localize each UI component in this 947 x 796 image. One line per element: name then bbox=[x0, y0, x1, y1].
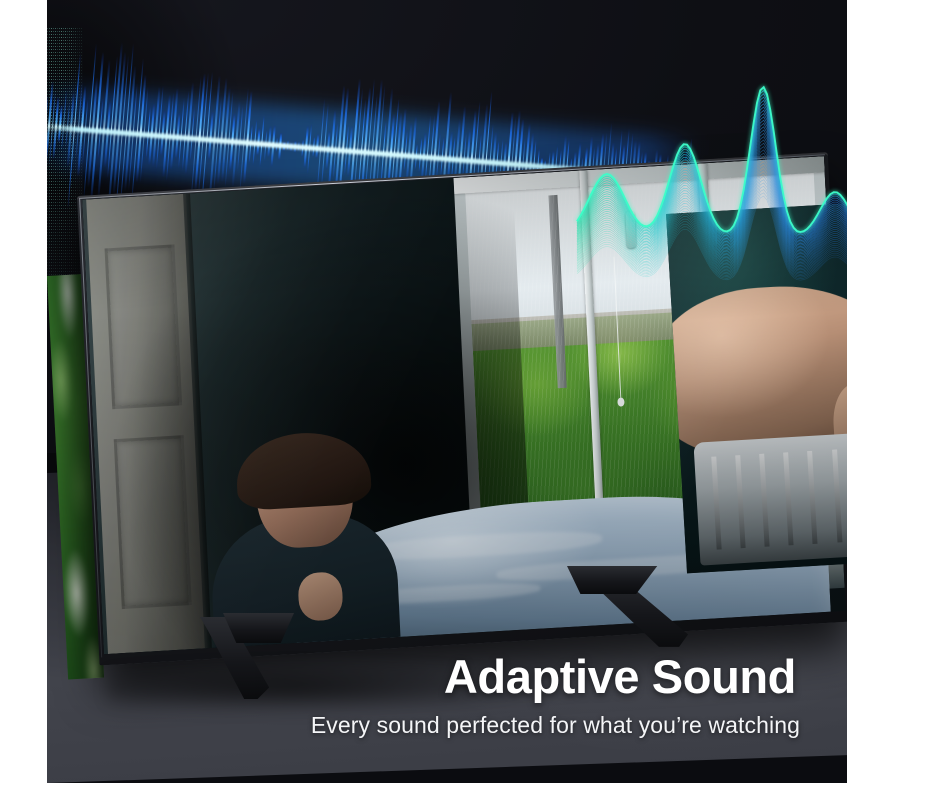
radiator bbox=[693, 430, 847, 565]
audio-wave-mesh-teal-icon bbox=[577, 60, 847, 275]
hero-banner: Adaptive Sound Every sound perfected for… bbox=[47, 0, 847, 783]
headline: Adaptive Sound bbox=[47, 653, 800, 701]
caption-block: Adaptive Sound Every sound perfected for… bbox=[47, 653, 847, 739]
hand-arm bbox=[666, 279, 847, 459]
screenshot-root: Adaptive Sound Every sound perfected for… bbox=[0, 0, 947, 796]
subheadline: Every sound perfected for what you’re wa… bbox=[47, 712, 800, 739]
